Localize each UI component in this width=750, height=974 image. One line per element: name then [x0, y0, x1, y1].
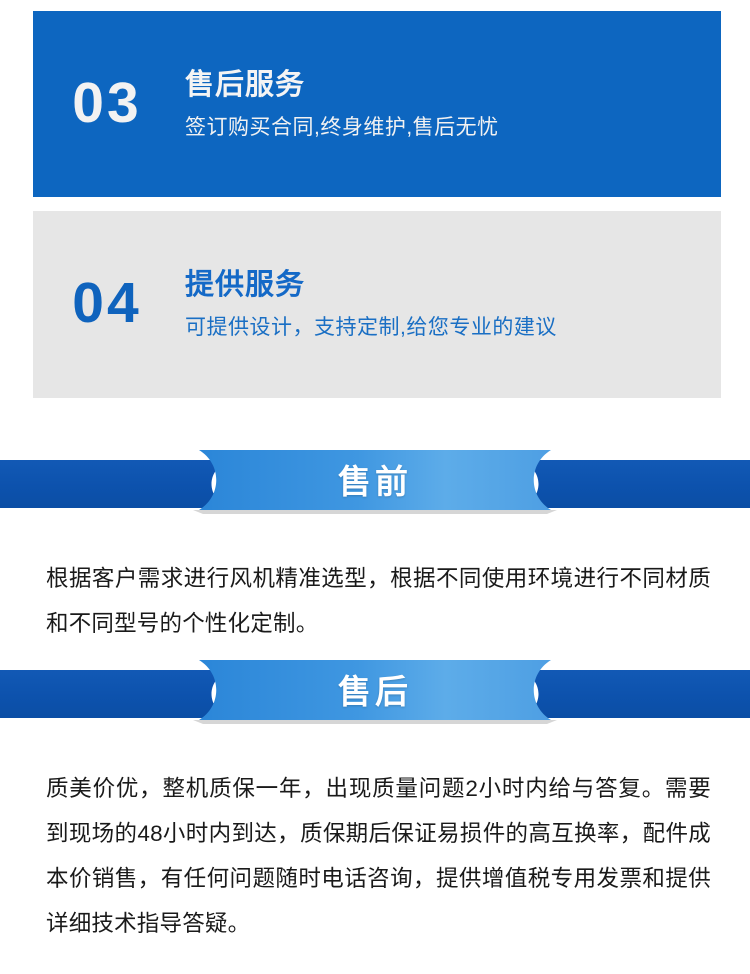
ribbon-banner-aftersale: 售后: [0, 658, 750, 730]
feature-text-03: 售后服务 签订购买合同,终身维护,售后无忧: [181, 67, 721, 142]
page-root: 03 售后服务 签订购买合同,终身维护,售后无忧 04 提供服务 可提供设计，支…: [0, 0, 750, 974]
feature-block-04: 04 提供服务 可提供设计，支持定制,给您专业的建议: [33, 211, 721, 398]
paragraph-presale: 根据客户需求进行风机精准选型，根据不同使用环境进行不同材质和不同型号的个性化定制…: [46, 556, 711, 646]
ribbon-label-presale: 售前: [0, 448, 750, 510]
feature-number-04: 04: [33, 275, 181, 334]
feature-text-04: 提供服务 可提供设计，支持定制,给您专业的建议: [181, 267, 721, 342]
feature-subtitle-03: 签订购买合同,终身维护,售后无忧: [185, 114, 721, 141]
feature-title-03: 售后服务: [185, 67, 721, 103]
feature-block-03: 03 售后服务 签订购买合同,终身维护,售后无忧: [33, 11, 721, 197]
feature-subtitle-04: 可提供设计，支持定制,给您专业的建议: [185, 314, 721, 341]
ribbon-label-aftersale: 售后: [0, 658, 750, 720]
feature-title-04: 提供服务: [185, 267, 721, 303]
ribbon-banner-presale: 售前: [0, 448, 750, 520]
paragraph-aftersale: 质美价优，整机质保一年，出现质量问题2小时内给与答复。需要到现场的48小时内到达…: [46, 766, 711, 946]
feature-number-03: 03: [33, 75, 181, 134]
